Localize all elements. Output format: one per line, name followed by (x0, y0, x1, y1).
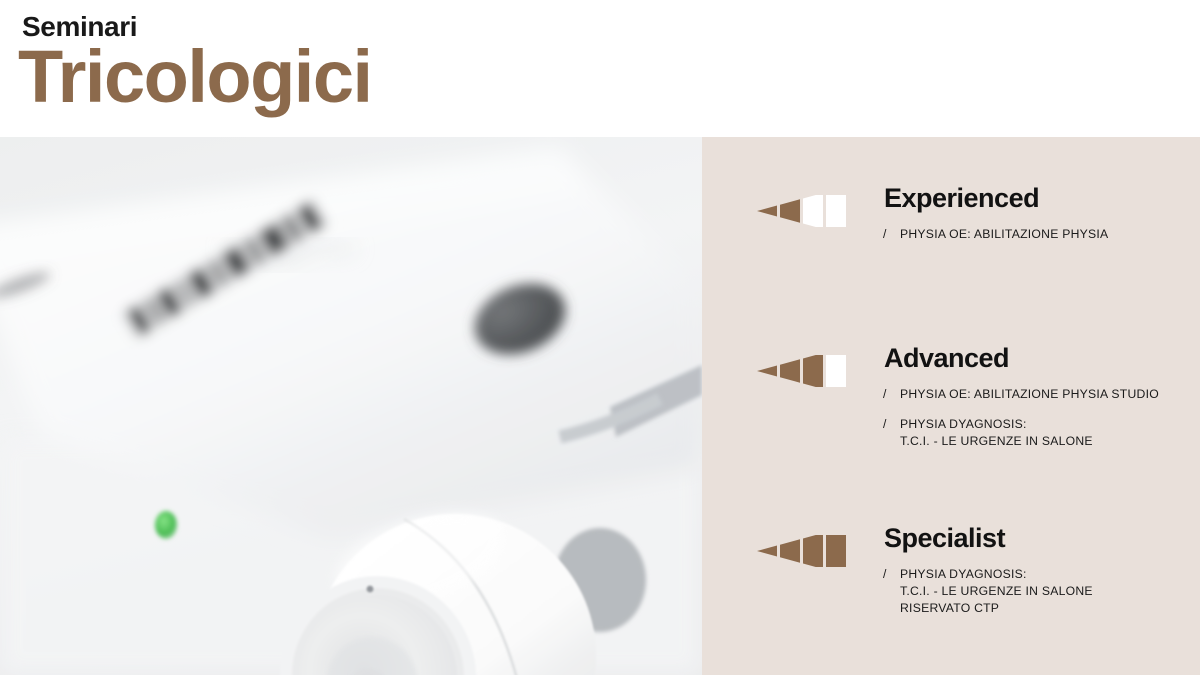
level-title-specialist: Specialist (884, 522, 1005, 554)
level-arrow-svg (757, 535, 851, 567)
level-arrow-4-of-4-icon (757, 535, 851, 567)
presentation-slide: Seminari Tricologici (0, 0, 1200, 675)
level-items-advanced: / PHYSIA OE: ABILITAZIONE PHYSIA STUDIO … (883, 386, 1198, 449)
item-text: PHYSIA OE: ABILITAZIONE PHYSIA (900, 226, 1198, 243)
page-title: Tricologici (18, 40, 372, 114)
title-band: Seminari Tricologici (0, 0, 1200, 137)
item-text: PHYSIA DYAGNOSIS: T.C.I. - LE URGENZE IN… (900, 566, 1198, 616)
item-line: T.C.I. - LE URGENZE IN SALONE (900, 433, 1198, 450)
item-line: PHYSIA OE: ABILITAZIONE PHYSIA STUDIO (900, 386, 1198, 403)
list-item: / PHYSIA OE: ABILITAZIONE PHYSIA STUDIO (883, 386, 1198, 403)
item-marker: / (883, 416, 900, 433)
item-line: T.C.I. - LE URGENZE IN SALONE (900, 583, 1198, 600)
item-marker: / (883, 226, 900, 243)
device-photo (0, 137, 702, 675)
level-title-advanced: Advanced (884, 342, 1009, 374)
item-line: RISERVATO CTP (900, 600, 1198, 617)
level-items-experienced: / PHYSIA OE: ABILITAZIONE PHYSIA (883, 226, 1198, 243)
list-item: / PHYSIA DYAGNOSIS: T.C.I. - LE URGENZE … (883, 566, 1198, 616)
levels-panel: Experienced / PHYSIA OE: ABILITAZIONE PH… (702, 137, 1200, 675)
item-line: PHYSIA DYAGNOSIS: (900, 566, 1198, 583)
level-arrow-2-of-4-icon (757, 195, 851, 227)
list-item: / PHYSIA OE: ABILITAZIONE PHYSIA (883, 226, 1198, 243)
item-text: PHYSIA DYAGNOSIS: T.C.I. - LE URGENZE IN… (900, 416, 1198, 450)
item-line: PHYSIA DYAGNOSIS: (900, 416, 1198, 433)
photo-light-wash (0, 137, 702, 675)
level-arrow-svg (757, 195, 851, 227)
item-text: PHYSIA OE: ABILITAZIONE PHYSIA STUDIO (900, 386, 1198, 403)
item-line: PHYSIA OE: ABILITAZIONE PHYSIA (900, 226, 1198, 243)
level-title-experienced: Experienced (884, 182, 1039, 214)
list-item: / PHYSIA DYAGNOSIS: T.C.I. - LE URGENZE … (883, 416, 1198, 450)
level-arrow-svg (757, 355, 851, 387)
level-arrow-3-of-4-icon (757, 355, 851, 387)
level-items-specialist: / PHYSIA DYAGNOSIS: T.C.I. - LE URGENZE … (883, 566, 1198, 616)
device-photo-illustration (0, 137, 702, 675)
item-marker: / (883, 386, 900, 403)
item-marker: / (883, 566, 900, 583)
